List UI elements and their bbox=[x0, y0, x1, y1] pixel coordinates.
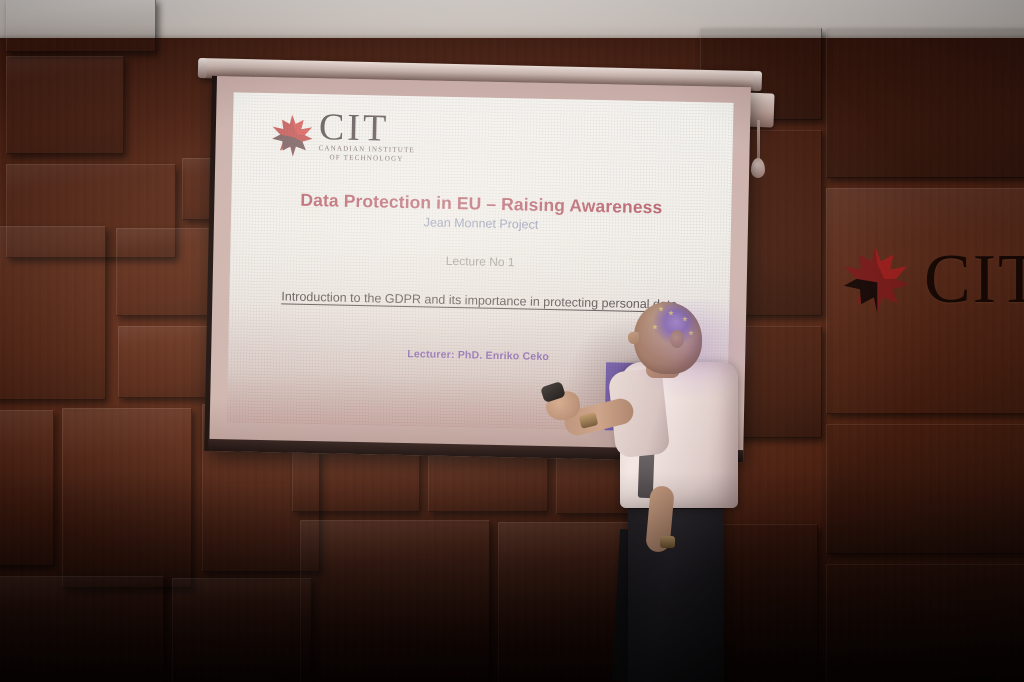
slide-logo-initials: CIT bbox=[319, 110, 416, 146]
wall-cit-logo: CIT bbox=[838, 228, 1024, 332]
wall-panel bbox=[826, 424, 1024, 554]
wall-logo-text: CIT bbox=[924, 245, 1024, 315]
wall-panel bbox=[62, 408, 192, 588]
wall-panel bbox=[6, 56, 124, 154]
screen-pull-cord-knob[interactable] bbox=[751, 158, 765, 178]
presenter-head bbox=[634, 302, 702, 374]
wall-panel bbox=[172, 578, 312, 682]
presentation-room-photo: CIT CIT CANADIAN IN bbox=[0, 0, 1024, 682]
wall-panel bbox=[300, 520, 490, 682]
wall-panel bbox=[6, 0, 156, 52]
wall-panel bbox=[826, 564, 1024, 682]
slide-lecture-number: Lecture No 1 bbox=[230, 249, 730, 273]
presenter bbox=[520, 300, 780, 682]
screen-pull-cord[interactable] bbox=[757, 120, 760, 162]
wall-panel bbox=[0, 226, 106, 400]
maple-leaf-icon bbox=[838, 243, 912, 317]
wall-panel bbox=[0, 576, 164, 682]
presenter-nose bbox=[628, 332, 639, 344]
wall-panel bbox=[826, 28, 1024, 178]
roller-cap-right bbox=[753, 71, 762, 91]
presenter-wristwatch-right bbox=[660, 536, 675, 548]
wall-panel bbox=[292, 446, 420, 512]
wall-panel bbox=[0, 410, 54, 566]
presenter-ear bbox=[670, 330, 684, 348]
maple-leaf-icon bbox=[268, 111, 315, 160]
slide-cit-logo: CIT CANADIAN INSTITUTE OF TECHNOLOGY bbox=[268, 109, 416, 164]
roller-cap-left bbox=[198, 58, 207, 78]
slide-logo-text: CIT CANADIAN INSTITUTE OF TECHNOLOGY bbox=[318, 110, 416, 164]
presenter-trousers bbox=[628, 500, 724, 682]
slide-logo-line2: OF TECHNOLOGY bbox=[318, 153, 415, 164]
